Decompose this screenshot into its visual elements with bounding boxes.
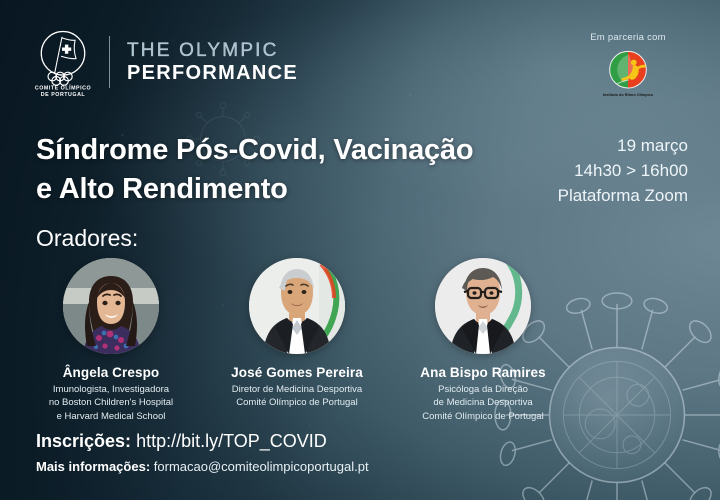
event-title-line-1: Síndrome Pós-Covid, Vacinação — [36, 131, 536, 170]
brand-line-the-olympic: THE OLYMPIC — [127, 41, 298, 60]
avatar-photo-jose-gomes-pereira — [249, 258, 345, 354]
event-platform: Plataforma Zoom — [558, 183, 688, 208]
event-date: 19 março — [558, 133, 688, 158]
footer-contact-block: Inscrições: http://bit.ly/TOP_COVID Mais… — [36, 431, 369, 474]
speaker-role: Imunologista, Investigadora no Boston Ch… — [18, 383, 204, 423]
event-time: 14h30 > 16h00 — [558, 158, 688, 183]
avatar — [63, 258, 159, 354]
speaker-card: José Gomes Pereira Diretor de Medicina D… — [204, 258, 390, 423]
speaker-name: José Gomes Pereira — [204, 365, 390, 380]
speakers-list: Ângela Crespo Imunologista, Investigador… — [18, 258, 578, 423]
logo-caption-line2: DE PORTUGAL — [41, 92, 86, 98]
header-divider — [109, 36, 110, 88]
partner-block: Em parceria com Instituto do Ritmo O — [558, 32, 698, 107]
avatar — [249, 258, 345, 354]
registration-label: Inscrições: — [36, 431, 131, 451]
speaker-role-line: Psicóloga da Direção — [390, 383, 576, 396]
speaker-role-line: e Harvard Medical School — [18, 410, 204, 423]
avatar-photo-ana-bispo-ramires — [435, 258, 531, 354]
speaker-card: Ângela Crespo Imunologista, Investigador… — [18, 258, 204, 423]
speaker-role-line: de Medicina Desportiva — [390, 396, 576, 409]
brand-line-performance: PERFORMANCE — [127, 63, 298, 83]
comite-olimpico-de-portugal-logo-icon: COMITÉ OLÍMPICO DE PORTUGAL — [34, 26, 92, 98]
speaker-card: Ana Bispo Ramires Psicóloga da Direção d… — [390, 258, 576, 423]
speaker-name: Ângela Crespo — [18, 365, 204, 380]
the-olympic-performance-wordmark: THE OLYMPIC PERFORMANCE — [127, 41, 298, 83]
speaker-role-line: Imunologista, Investigadora — [18, 383, 204, 396]
registration-url[interactable]: http://bit.ly/TOP_COVID — [136, 431, 327, 451]
event-title-line-2: e Alto Rendimento — [36, 170, 536, 209]
more-info-line: Mais informações: formacao@comiteolimpic… — [36, 459, 369, 474]
header-brand-block: COMITÉ OLÍMPICO DE PORTUGAL THE OLYMPIC … — [34, 26, 298, 98]
speaker-role: Diretor de Medicina Desportiva Comité Ol… — [204, 383, 390, 410]
speaker-role-line: Comité Olímpico de Portugal — [390, 410, 576, 423]
partner-logo-icon: Instituto do Ritmo Olímpico — [599, 48, 657, 102]
event-when-block: 19 março 14h30 > 16h00 Plataforma Zoom — [558, 133, 688, 208]
speaker-role-line: Comité Olímpico de Portugal — [204, 396, 390, 409]
speaker-role-line: no Boston Children's Hospital — [18, 396, 204, 409]
speaker-role-line: Diretor de Medicina Desportiva — [204, 383, 390, 396]
avatar — [435, 258, 531, 354]
more-info-email[interactable]: formacao@comiteolimpicoportugal.pt — [154, 459, 369, 474]
poster-canvas: COMITÉ OLÍMPICO DE PORTUGAL THE OLYMPIC … — [0, 0, 720, 500]
avatar-photo-angela-crespo — [63, 258, 159, 354]
speaker-name: Ana Bispo Ramires — [390, 365, 576, 380]
registration-line: Inscrições: http://bit.ly/TOP_COVID — [36, 431, 369, 452]
partner-label: Em parceria com — [558, 32, 698, 43]
speaker-role: Psicóloga da Direção de Medicina Desport… — [390, 383, 576, 423]
speakers-heading: Oradores: — [36, 225, 138, 252]
partner-logo-caption: Instituto do Ritmo Olímpico — [603, 93, 654, 97]
more-info-label: Mais informações: — [36, 459, 150, 474]
event-title: Síndrome Pós-Covid, Vacinação e Alto Ren… — [36, 131, 536, 208]
